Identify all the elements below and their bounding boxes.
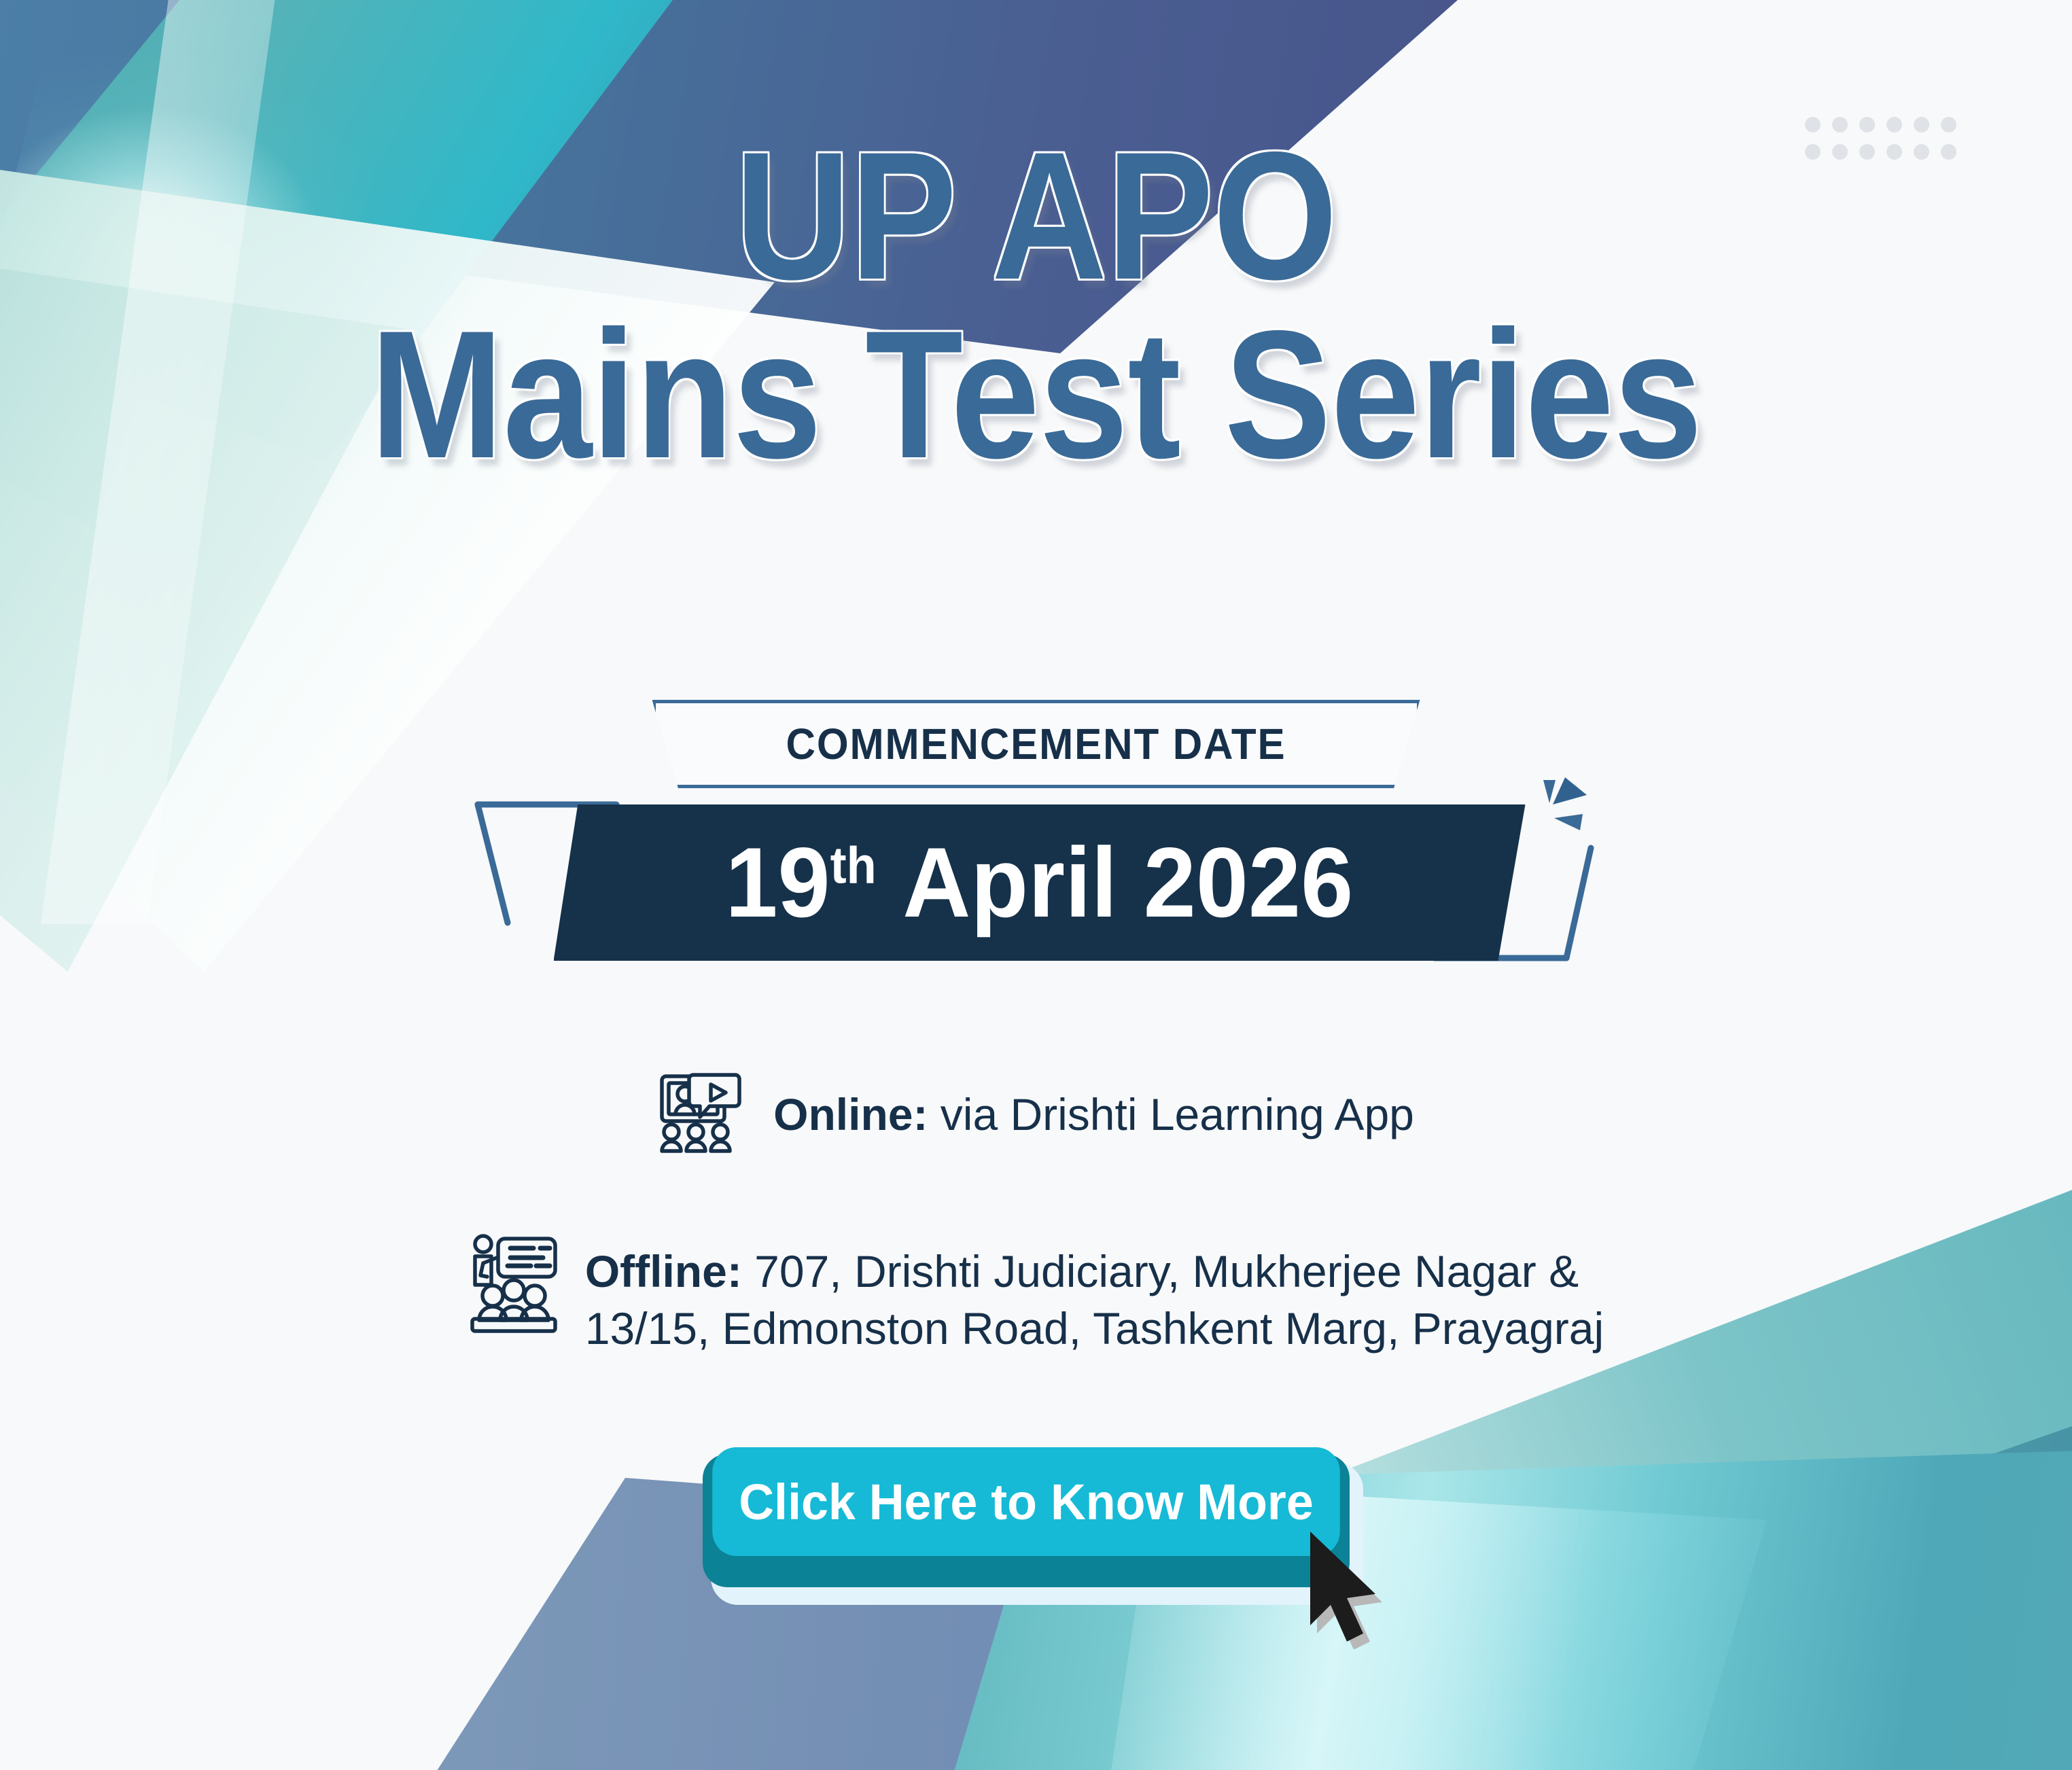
offline-address-line-2: 13/15, Edmonston Road, Tashkent Marg, Pr… [585,1303,1604,1353]
offline-address-line-1: 707, Drishti Judiciary, Mukherjee Nagar … [754,1246,1579,1296]
offline-mode-text: Offline: 707, Drishti Judiciary, Mukherj… [585,1233,1604,1358]
title-line-course: Mains Test Series [124,308,1948,481]
commencement-date-text: 19th April 2026 [726,833,1354,932]
online-class-icon [658,1072,745,1157]
know-more-button[interactable]: Click Here to Know More [712,1447,1339,1556]
online-label: Online: [773,1089,928,1139]
date-suffix: th [830,836,877,894]
online-value: via Drishti Learning App [941,1089,1414,1139]
online-mode-text: Online: via Drishti Learning App [773,1086,1414,1143]
sparkle-triangles-decoration [1538,776,1640,878]
offline-classroom-icon [468,1233,559,1339]
commencement-label-frame: COMMENCEMENT DATE [652,700,1420,788]
commencement-date-banner: 19th April 2026 [554,804,1526,961]
online-mode-row: Online: via Drishti Learning App [0,1072,2072,1157]
commencement-label-text: COMMENCEMENT DATE [786,719,1286,769]
promo-banner: UP APO Mains Test Series COMMENCEMENT DA… [0,0,2072,1770]
offline-mode-row: Offline: 707, Drishti Judiciary, Mukherj… [0,1233,2072,1358]
commencement-date-block: COMMENCEMENT DATE 19th April 2026 [0,700,2072,961]
date-bar-area: 19th April 2026 [506,804,1566,961]
cta-holder: Click Here to Know More [700,1447,1373,1617]
page-title: UP APO Mains Test Series [0,129,2072,480]
cta-area: Click Here to Know More [0,1447,2072,1617]
title-line-exam: UP APO [124,129,1948,302]
offline-line-1: Offline: 707, Drishti Judiciary, Mukherj… [585,1246,1579,1296]
offline-label: Offline: [585,1246,742,1296]
date-day: 19 [726,827,830,938]
date-month-year: April 2026 [902,827,1353,938]
